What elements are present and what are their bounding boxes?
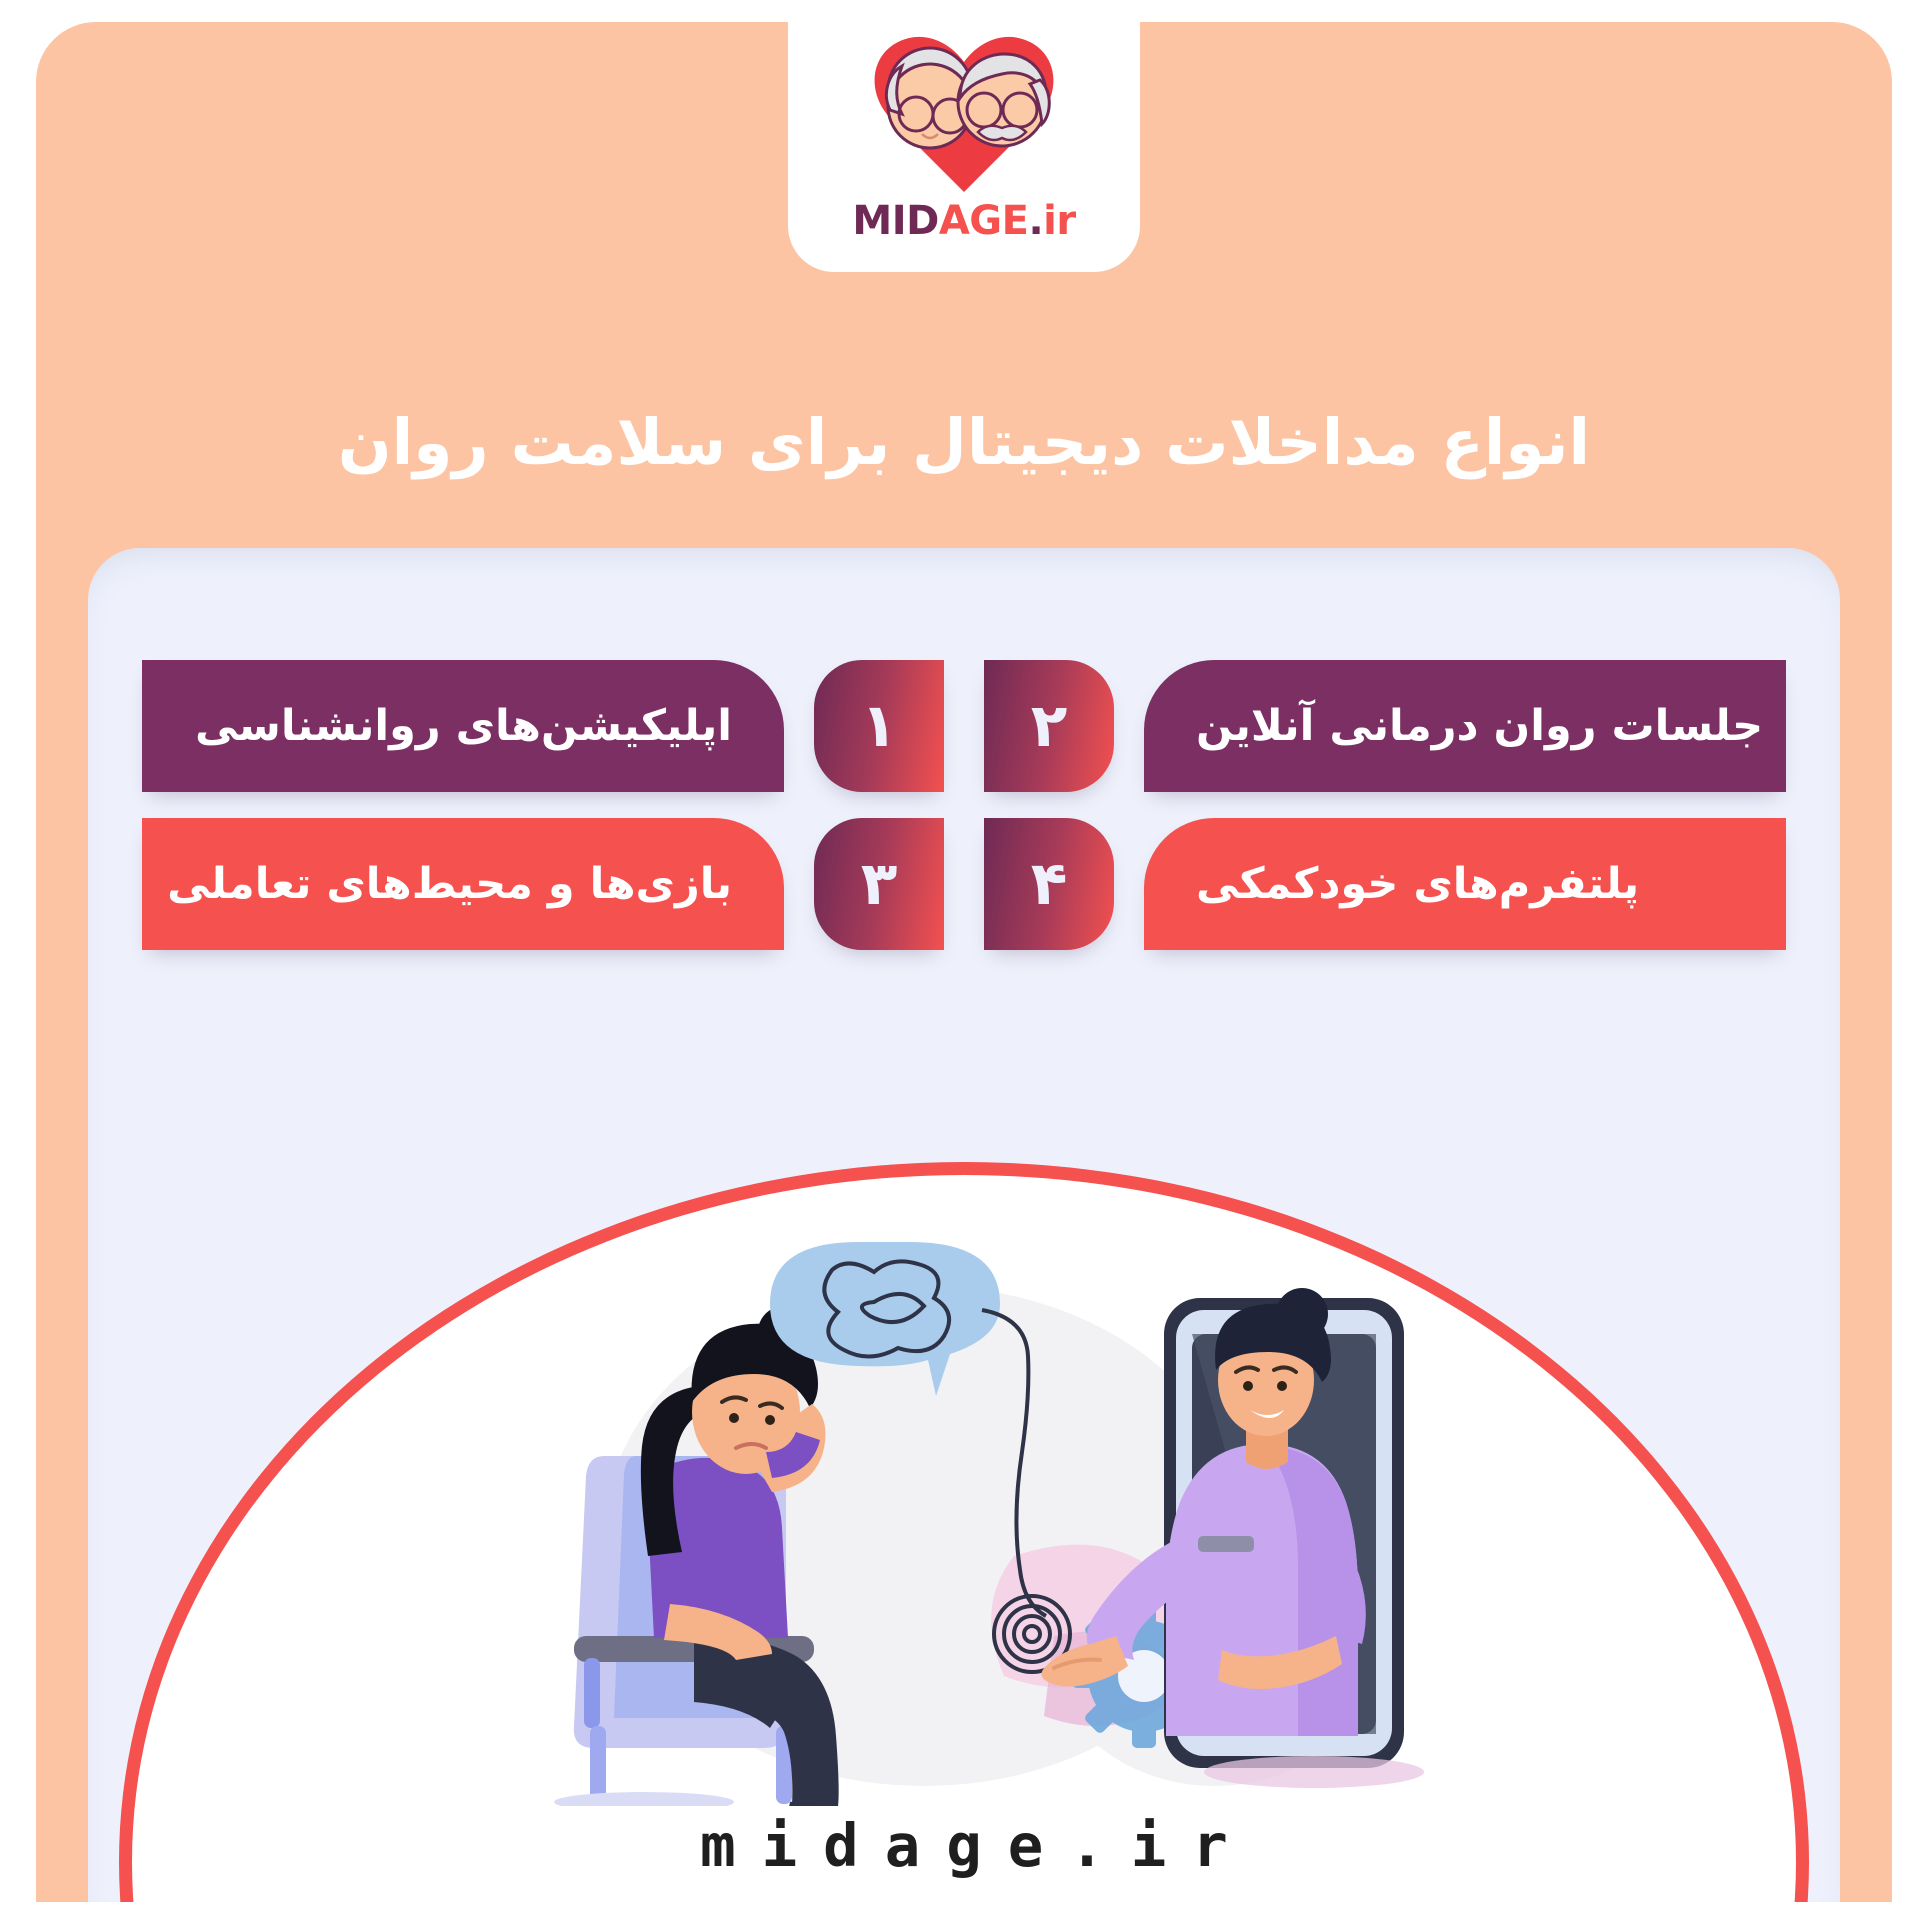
online-therapy-illustration [454,1206,1474,1806]
list-number-1: ۱ [814,660,944,792]
logo-text-ir: ir [1043,198,1075,244]
row-gap [956,818,972,950]
list-number-3: ۳ [814,818,944,950]
list-row: جلسات روان درمانی آنلاین ۲ ۱ اپلیکیشن‌ها… [88,660,1840,792]
content-card: جلسات روان درمانی آنلاین ۲ ۱ اپلیکیشن‌ها… [88,548,1840,1902]
logo-text-mid: MID [852,198,938,244]
brand-logo: MIDAGE.ir [814,14,1114,264]
intervention-list: جلسات روان درمانی آنلاین ۲ ۱ اپلیکیشن‌ها… [88,660,1840,976]
online-therapy-illustration-icon [454,1206,1474,1806]
logo-text-age: AGE [939,198,1029,244]
number-text: ۲ [1031,691,1068,761]
number-text: ۱ [861,691,898,761]
page-title: انواع مداخلات دیجیتال برای سلامت روان [0,397,1928,488]
number-text: ۴ [1031,849,1068,919]
number-text: ۳ [861,849,898,919]
list-item-label: جلسات روان درمانی آنلاین [1196,701,1763,751]
list-item-1[interactable]: اپلیکیشن‌های روانشناسی [142,660,784,792]
list-item-label: بازی‌ها و محیط‌های تعاملی [167,859,732,909]
list-item-4[interactable]: پلتفرم‌های خودکمکی [1144,818,1786,950]
list-number-4: ۴ [984,818,1114,950]
list-row: پلتفرم‌های خودکمکی ۴ ۳ بازی‌ها و محیط‌ها… [88,818,1840,950]
list-item-2[interactable]: جلسات روان درمانی آنلاین [1144,660,1786,792]
row-gap [956,660,972,792]
list-number-2: ۲ [984,660,1114,792]
list-item-3[interactable]: بازی‌ها و محیط‌های تعاملی [142,818,784,950]
infographic-poster: MIDAGE.ir انواع مداخلات دیجیتال برای سلا… [0,0,1928,1919]
illustration-stage: midage.ir [88,1162,1840,1902]
footer-url: midage.ir [88,1811,1840,1880]
logo-wordmark: MIDAGE.ir [852,201,1075,241]
logo-text-dot: . [1028,198,1043,244]
list-item-label: اپلیکیشن‌های روانشناسی [195,701,732,751]
list-item-label: پلتفرم‌های خودکمکی [1196,859,1639,909]
elderly-couple-heart-logo-icon [844,14,1084,199]
